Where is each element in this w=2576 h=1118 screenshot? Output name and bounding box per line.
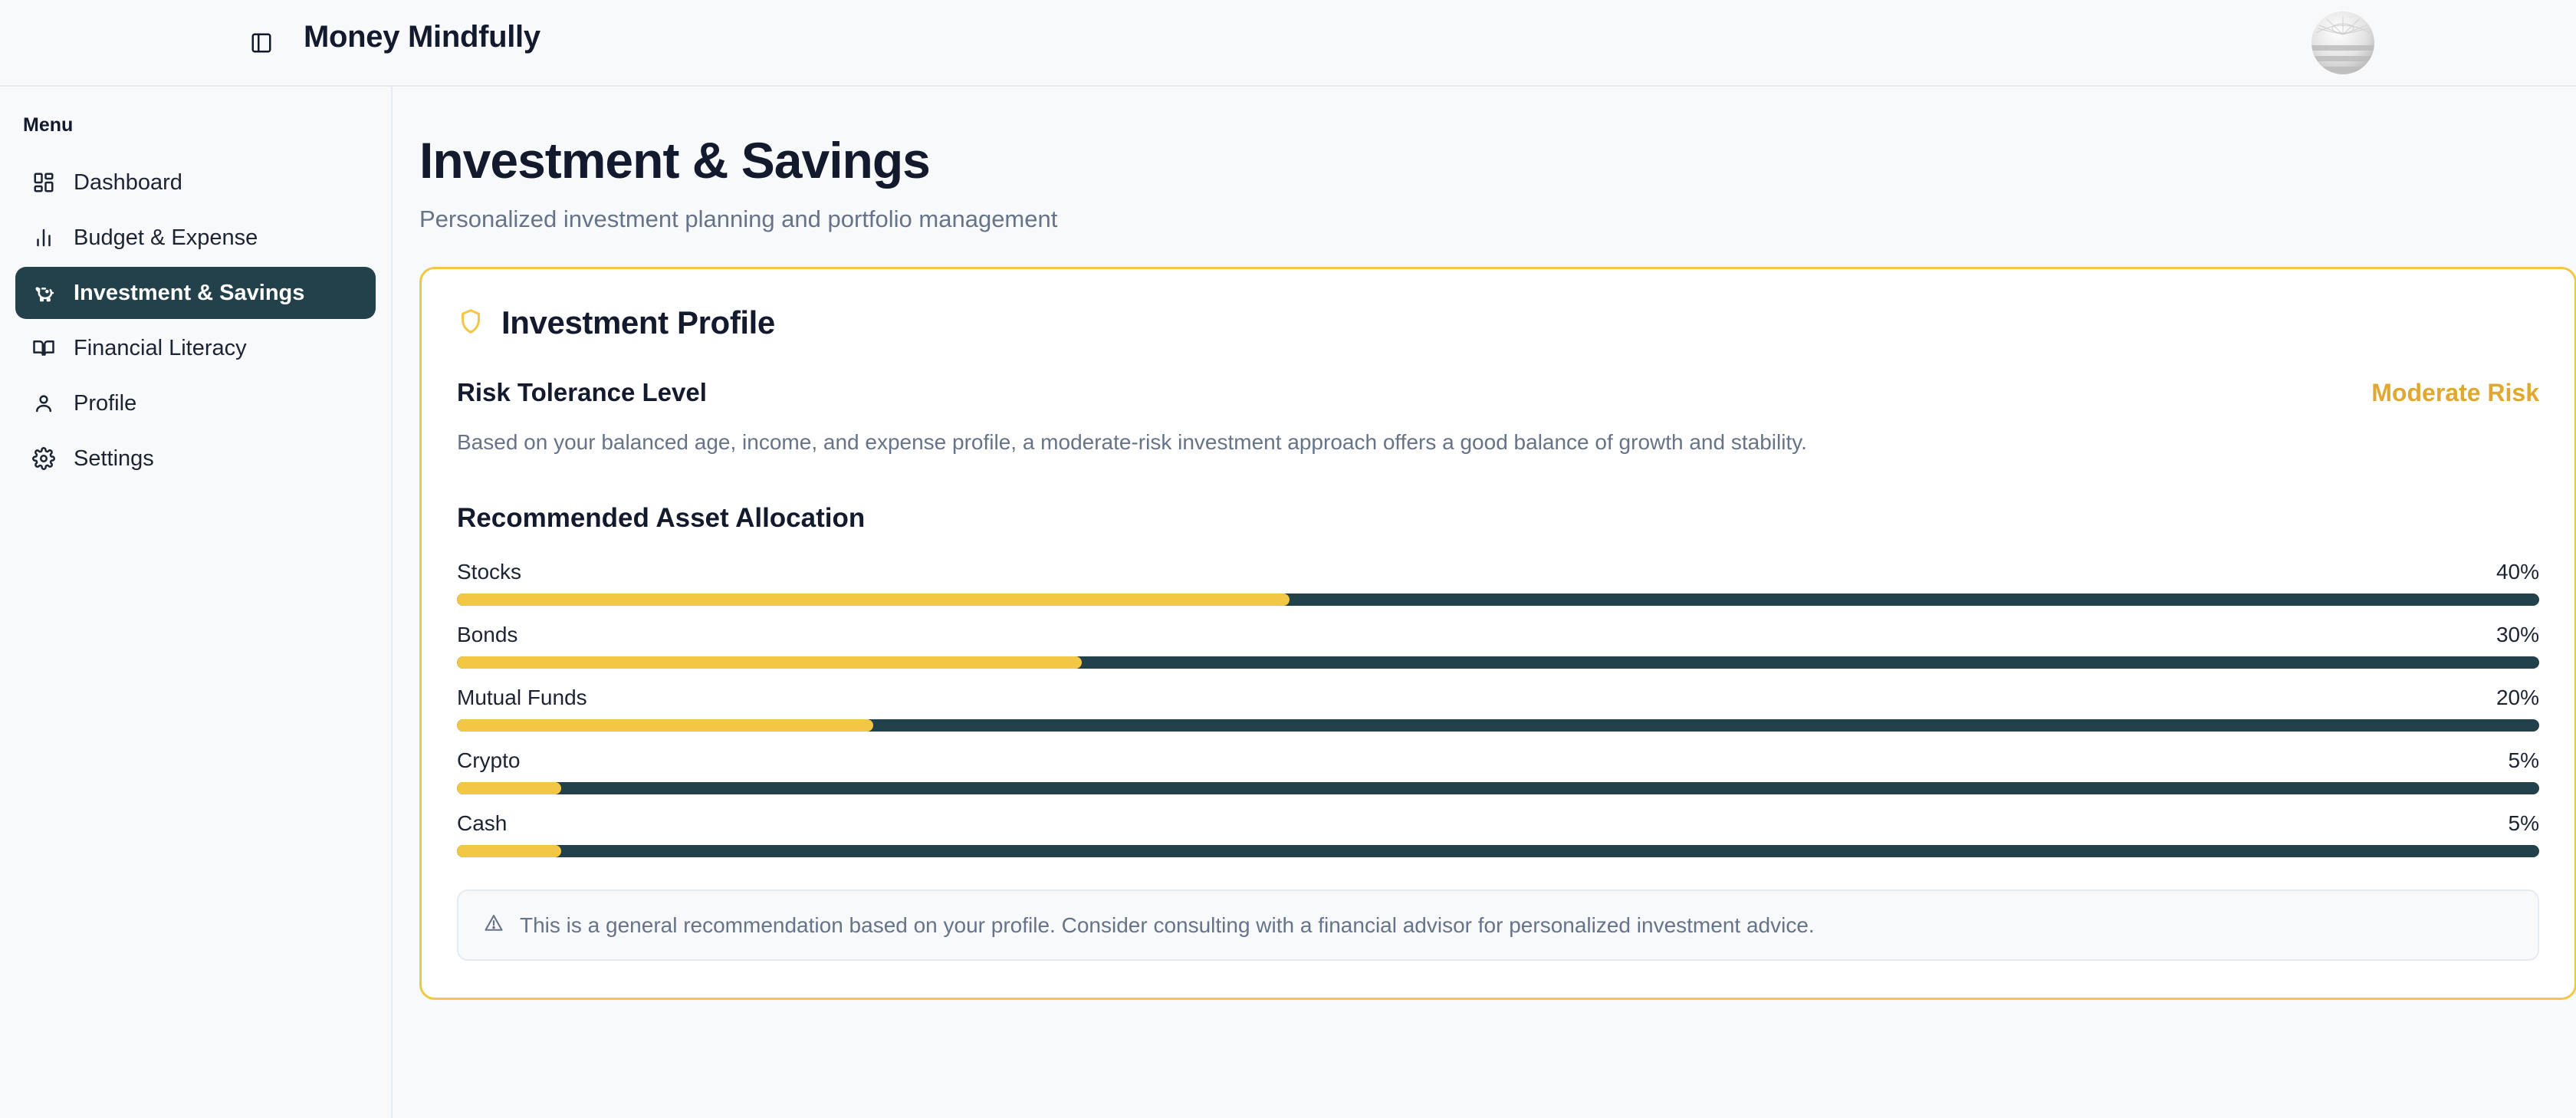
allocation-row: Stocks 40% bbox=[457, 560, 2539, 606]
sidebar-item-label: Financial Literacy bbox=[74, 336, 247, 361]
sidebar-section-label: Menu bbox=[23, 114, 391, 136]
sidebar-item-label: Settings bbox=[74, 446, 154, 472]
piggy-bank-icon bbox=[29, 278, 58, 307]
disclaimer-note: This is a general recommendation based o… bbox=[457, 889, 2539, 961]
warning-triangle-icon bbox=[483, 912, 504, 938]
asset-percent: 40% bbox=[2496, 560, 2539, 584]
card-title: Investment Profile bbox=[501, 304, 775, 341]
risk-tolerance-heading: Risk Tolerance Level bbox=[457, 378, 707, 407]
user-avatar[interactable] bbox=[2311, 12, 2374, 74]
risk-level-badge: Moderate Risk bbox=[2371, 379, 2539, 407]
risk-description: Based on your balanced age, income, and … bbox=[457, 427, 2539, 457]
risk-tolerance-row: Risk Tolerance Level Moderate Risk bbox=[457, 378, 2539, 407]
allocation-bar-fill bbox=[457, 594, 1290, 606]
allocation-bar-track bbox=[457, 719, 2539, 732]
page-title: Investment & Savings bbox=[419, 134, 2530, 187]
sidebar-item-settings[interactable]: Settings bbox=[15, 432, 376, 485]
allocation-bar-track bbox=[457, 782, 2539, 794]
shield-icon bbox=[457, 307, 485, 339]
allocation-bar-fill bbox=[457, 719, 873, 732]
allocation-row: Crypto 5% bbox=[457, 748, 2539, 794]
allocation-heading: Recommended Asset Allocation bbox=[457, 503, 2539, 534]
asset-percent: 5% bbox=[2509, 748, 2539, 773]
allocation-bar-track bbox=[457, 594, 2539, 606]
asset-allocation-chart: Stocks 40% Bonds 30% Mutual Funds bbox=[457, 560, 2539, 857]
asset-percent: 30% bbox=[2496, 623, 2539, 647]
asset-name: Crypto bbox=[457, 748, 520, 773]
allocation-bar-track bbox=[457, 845, 2539, 857]
allocation-bar-fill bbox=[457, 845, 561, 857]
disclaimer-text: This is a general recommendation based o… bbox=[520, 913, 1815, 938]
asset-name: Mutual Funds bbox=[457, 686, 587, 710]
investment-profile-card: Investment Profile Risk Tolerance Level … bbox=[419, 267, 2576, 1000]
sidebar-item-label: Budget & Expense bbox=[74, 225, 258, 251]
sidebar-item-label: Dashboard bbox=[74, 170, 182, 196]
asset-name: Bonds bbox=[457, 623, 517, 647]
asset-name: Cash bbox=[457, 811, 507, 836]
user-icon bbox=[29, 389, 58, 418]
layout-dashboard-icon bbox=[29, 168, 58, 197]
sidebar-item-dashboard[interactable]: Dashboard bbox=[15, 156, 376, 209]
card-header: Investment Profile bbox=[457, 304, 2539, 341]
allocation-bar-fill bbox=[457, 782, 561, 794]
sidebar-item-profile[interactable]: Profile bbox=[15, 377, 376, 429]
sidebar-toggle-icon[interactable] bbox=[245, 26, 278, 60]
allocation-row: Mutual Funds 20% bbox=[457, 686, 2539, 732]
sidebar-item-budget-expense[interactable]: Budget & Expense bbox=[15, 212, 376, 264]
allocation-row: Cash 5% bbox=[457, 811, 2539, 857]
bar-chart-icon bbox=[29, 223, 58, 252]
allocation-bar-track bbox=[457, 656, 2539, 669]
main-content: Investment & Savings Personalized invest… bbox=[393, 87, 2576, 1118]
sidebar: Menu Dashboard Budget & Expense bbox=[0, 87, 393, 1118]
gear-icon bbox=[29, 444, 58, 473]
allocation-bar-fill bbox=[457, 656, 1082, 669]
sidebar-item-investment-savings[interactable]: Investment & Savings bbox=[15, 267, 376, 319]
sidebar-item-label: Investment & Savings bbox=[74, 281, 304, 306]
asset-percent: 5% bbox=[2509, 811, 2539, 836]
top-header-bar: Money Mindfully bbox=[0, 0, 2576, 87]
page-subtitle: Personalized investment planning and por… bbox=[419, 206, 2530, 233]
asset-name: Stocks bbox=[457, 560, 521, 584]
app-title: Money Mindfully bbox=[304, 20, 540, 54]
sidebar-item-label: Profile bbox=[74, 391, 136, 416]
book-open-icon bbox=[29, 334, 58, 363]
asset-percent: 20% bbox=[2496, 686, 2539, 710]
allocation-row: Bonds 30% bbox=[457, 623, 2539, 669]
sidebar-item-financial-literacy[interactable]: Financial Literacy bbox=[15, 322, 376, 374]
